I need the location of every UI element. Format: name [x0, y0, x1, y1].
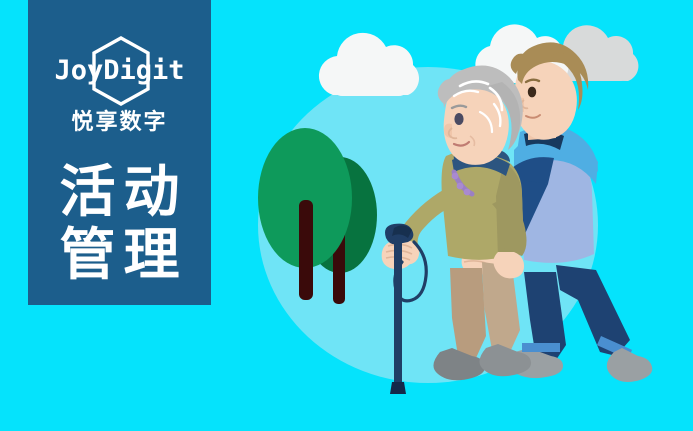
logo-lockup: JoyDigit [45, 34, 195, 108]
brand-panel: JoyDigit 悦享数字 活动 管理 [28, 0, 211, 305]
title-line-2: 管理 [52, 225, 188, 288]
title-line-1: 活动 [52, 162, 188, 225]
logo-wordmark: JoyDigit [45, 54, 195, 86]
logo-subtitle: 悦享数字 [71, 104, 167, 136]
poster-canvas: JoyDigit 悦享数字 活动 管理 [0, 0, 693, 431]
page-title: 活动 管理 [52, 162, 188, 287]
